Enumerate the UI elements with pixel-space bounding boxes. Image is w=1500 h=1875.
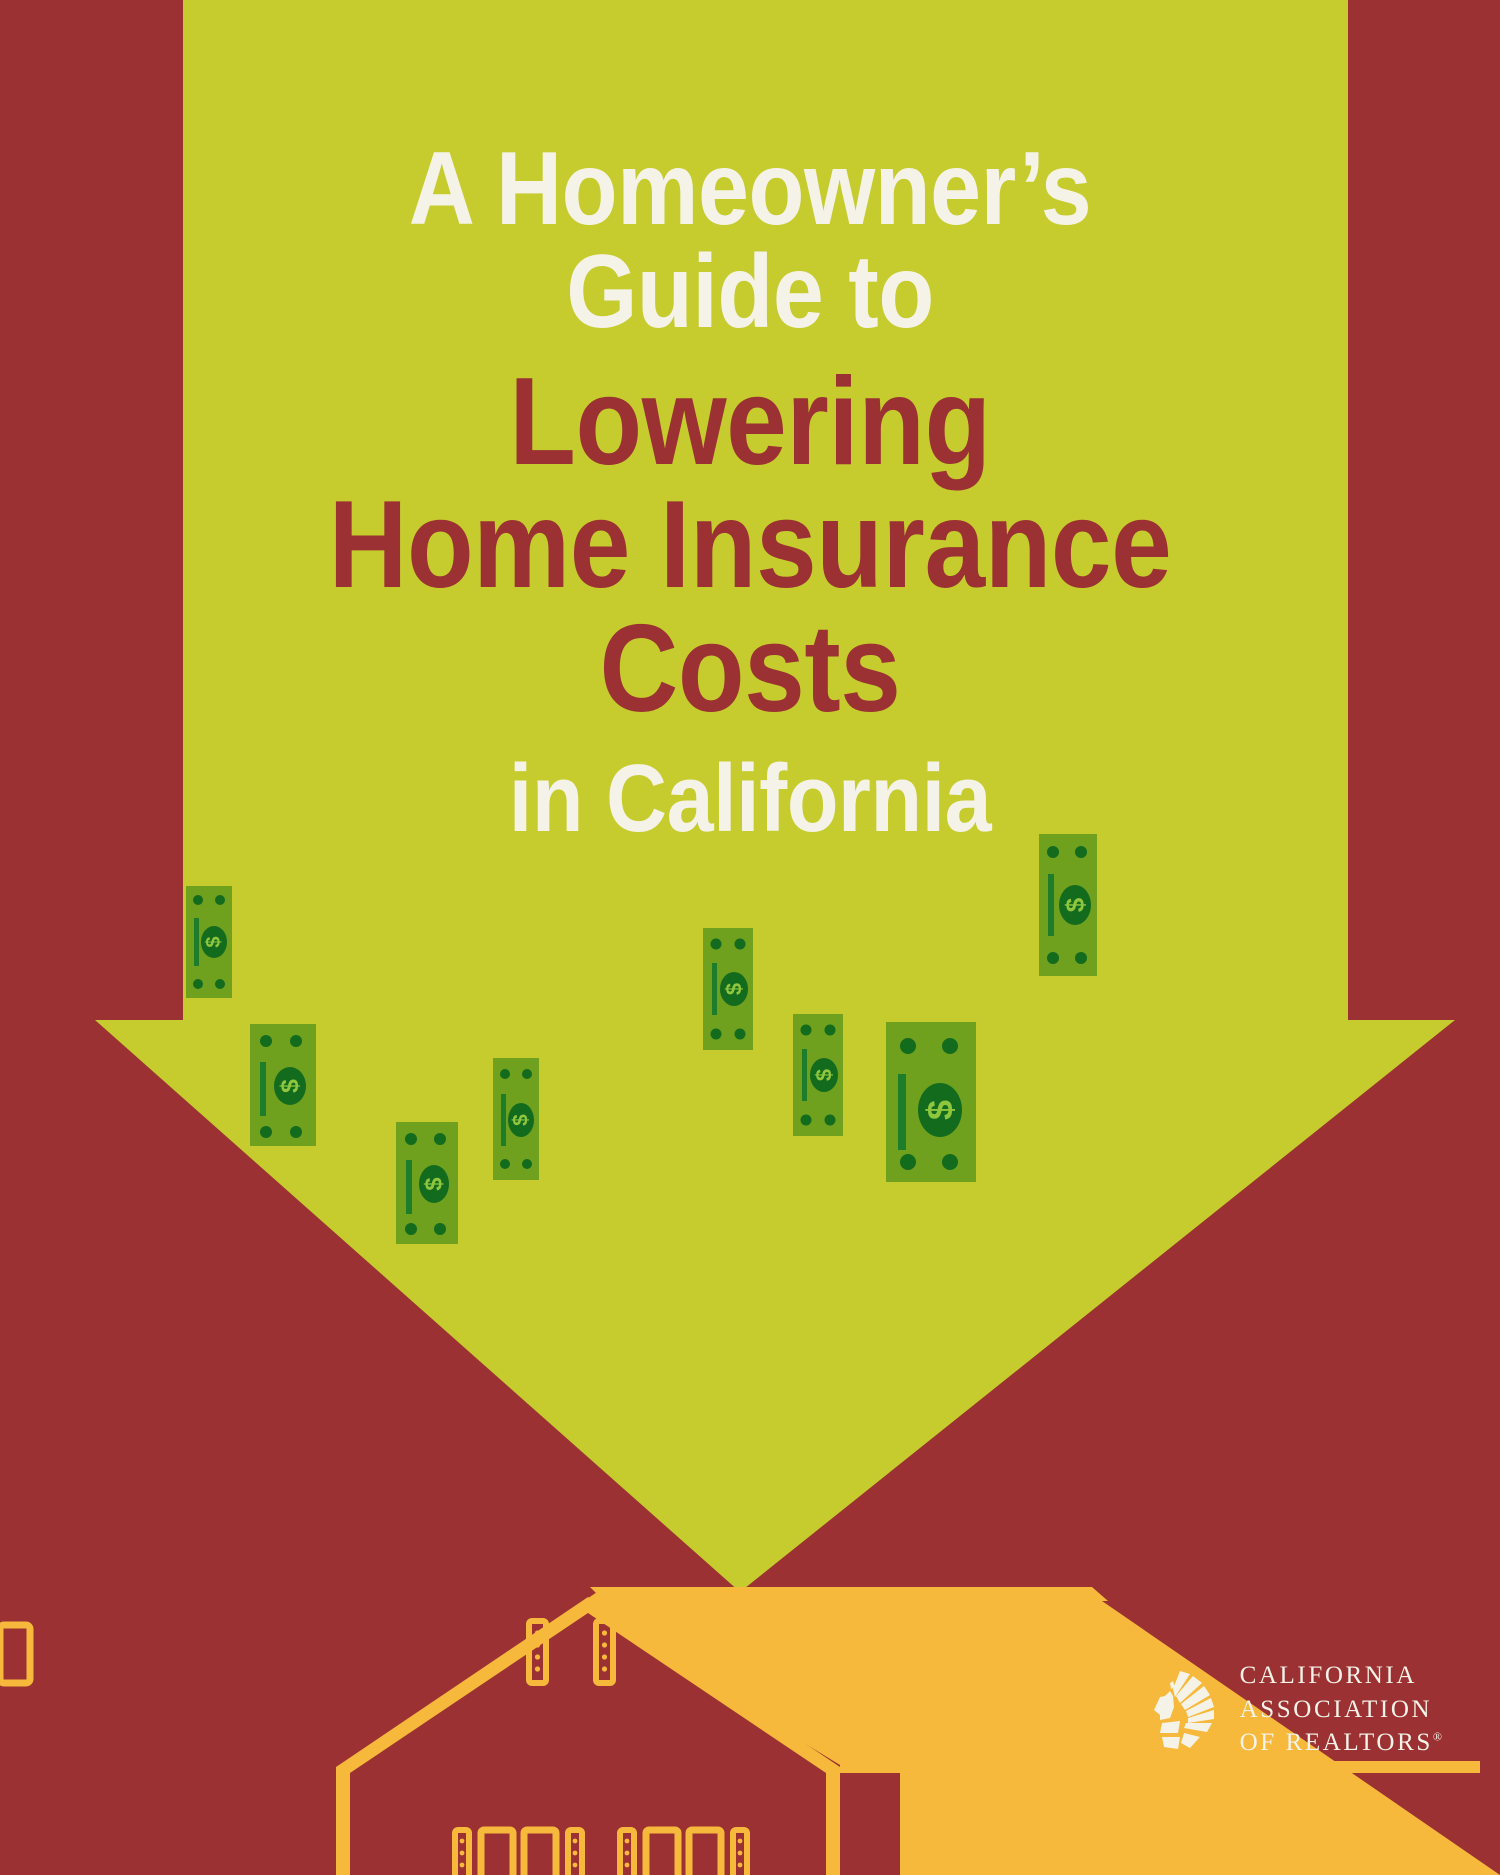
svg-text:$: $ — [722, 983, 747, 995]
money-bill: $ — [186, 886, 232, 998]
car-logo-wordmark: CALIFORNIA ASSOCIATION OF REALTORS® — [1240, 1659, 1442, 1760]
california-state-rays-icon — [1140, 1663, 1222, 1755]
registered-trademark-mark: ® — [1433, 1730, 1442, 1744]
svg-text:$: $ — [510, 1114, 533, 1126]
downward-arrow — [0, 0, 1500, 1600]
logo-line-association: ASSOCIATION — [1240, 1693, 1442, 1727]
money-bill: $ — [396, 1122, 458, 1244]
svg-text:$: $ — [421, 1177, 448, 1191]
money-bill: $ — [886, 1022, 976, 1182]
money-bill: $ — [703, 928, 753, 1050]
logo-of-realtors-text: OF REALTORS — [1240, 1729, 1433, 1756]
money-bill: $ — [250, 1024, 316, 1146]
brochure-cover-page: $ $ $ $ — [0, 0, 1500, 1875]
svg-text:$: $ — [812, 1069, 837, 1081]
svg-text:$: $ — [1060, 897, 1090, 912]
svg-text:$: $ — [920, 1100, 961, 1120]
car-logo[interactable]: CALIFORNIA ASSOCIATION OF REALTORS® — [1140, 1659, 1442, 1760]
svg-text:$: $ — [276, 1079, 304, 1093]
money-bill: $ — [493, 1058, 539, 1180]
logo-line-of-realtors: OF REALTORS® — [1240, 1726, 1442, 1760]
money-bill: $ — [1039, 834, 1097, 976]
svg-text:$: $ — [203, 936, 225, 947]
money-bill: $ — [793, 1014, 843, 1136]
logo-line-california: CALIFORNIA — [1240, 1659, 1442, 1693]
